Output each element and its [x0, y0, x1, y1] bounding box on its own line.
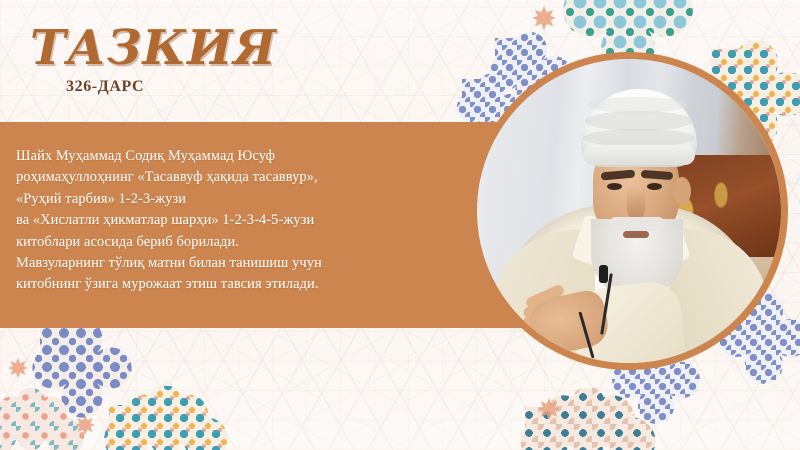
photo-eye-right [647, 183, 662, 190]
photo-nose [627, 189, 645, 219]
lesson-description-text: Шайх Муҳаммад Содиқ Муҳаммад Юсуф роҳима… [16, 146, 448, 296]
cloud-gold-bottomcenter-icon [104, 386, 228, 450]
cloud-pink-bottomleft-icon [0, 388, 84, 450]
photo-mouth [623, 231, 649, 238]
photo-moustache [609, 217, 665, 231]
photo-turban-band [583, 145, 695, 165]
lesson-slide: Шайх Муҳаммад Содиқ Муҳаммад Юсуф роҳима… [0, 0, 800, 450]
portrait-photo [477, 59, 781, 363]
photo-ear [673, 177, 691, 205]
page-title: ТАЗКИЯ [30, 24, 360, 72]
photo-microphone-clip [599, 265, 608, 283]
portrait-circle-frame [470, 52, 788, 370]
photo-eye-left [607, 183, 622, 190]
lesson-number: 326-ДАРС [66, 78, 360, 96]
photo-turban-wrap-1 [585, 111, 693, 131]
title-block: ТАЗКИЯ 326-ДАРС [30, 24, 360, 96]
